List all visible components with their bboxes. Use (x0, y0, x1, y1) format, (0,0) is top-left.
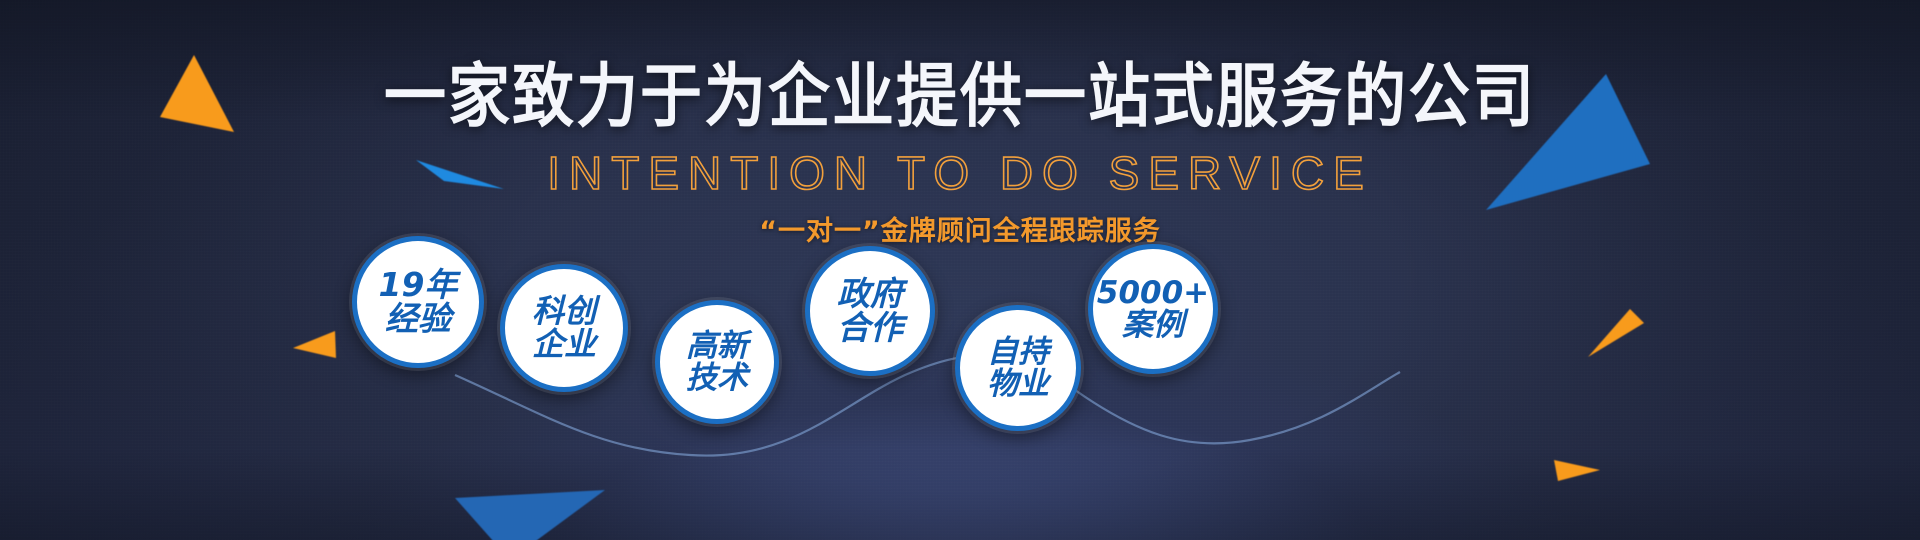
badge-gov-cooperation[interactable]: 政府 合作 (805, 246, 935, 376)
badge-high-tech[interactable]: 高新 技术 (655, 300, 779, 424)
badge-label: 5000+ 案例 (1093, 277, 1213, 341)
badge-list: 19年 经验 科创 企业 高新 技术 政府 合作 自持 物业 5000+ 案例 (0, 0, 1920, 540)
badge-label: 高新 技术 (682, 330, 752, 394)
promo-banner: 一家致力于为企业提供一站式服务的公司 INTENTION TO DO SERVI… (0, 0, 1920, 540)
badge-self-held-property[interactable]: 自持 物业 (955, 305, 1081, 431)
badge-tech-startup[interactable]: 科创 企业 (500, 264, 628, 392)
badge-years-experience[interactable]: 19年 经验 (352, 236, 484, 368)
badge-label: 19年 经验 (375, 268, 462, 337)
badge-label: 自持 物业 (983, 336, 1053, 400)
badge-label: 科创 企业 (528, 295, 600, 362)
badge-cases-count[interactable]: 5000+ 案例 (1088, 244, 1218, 374)
badge-label: 政府 合作 (833, 277, 907, 346)
